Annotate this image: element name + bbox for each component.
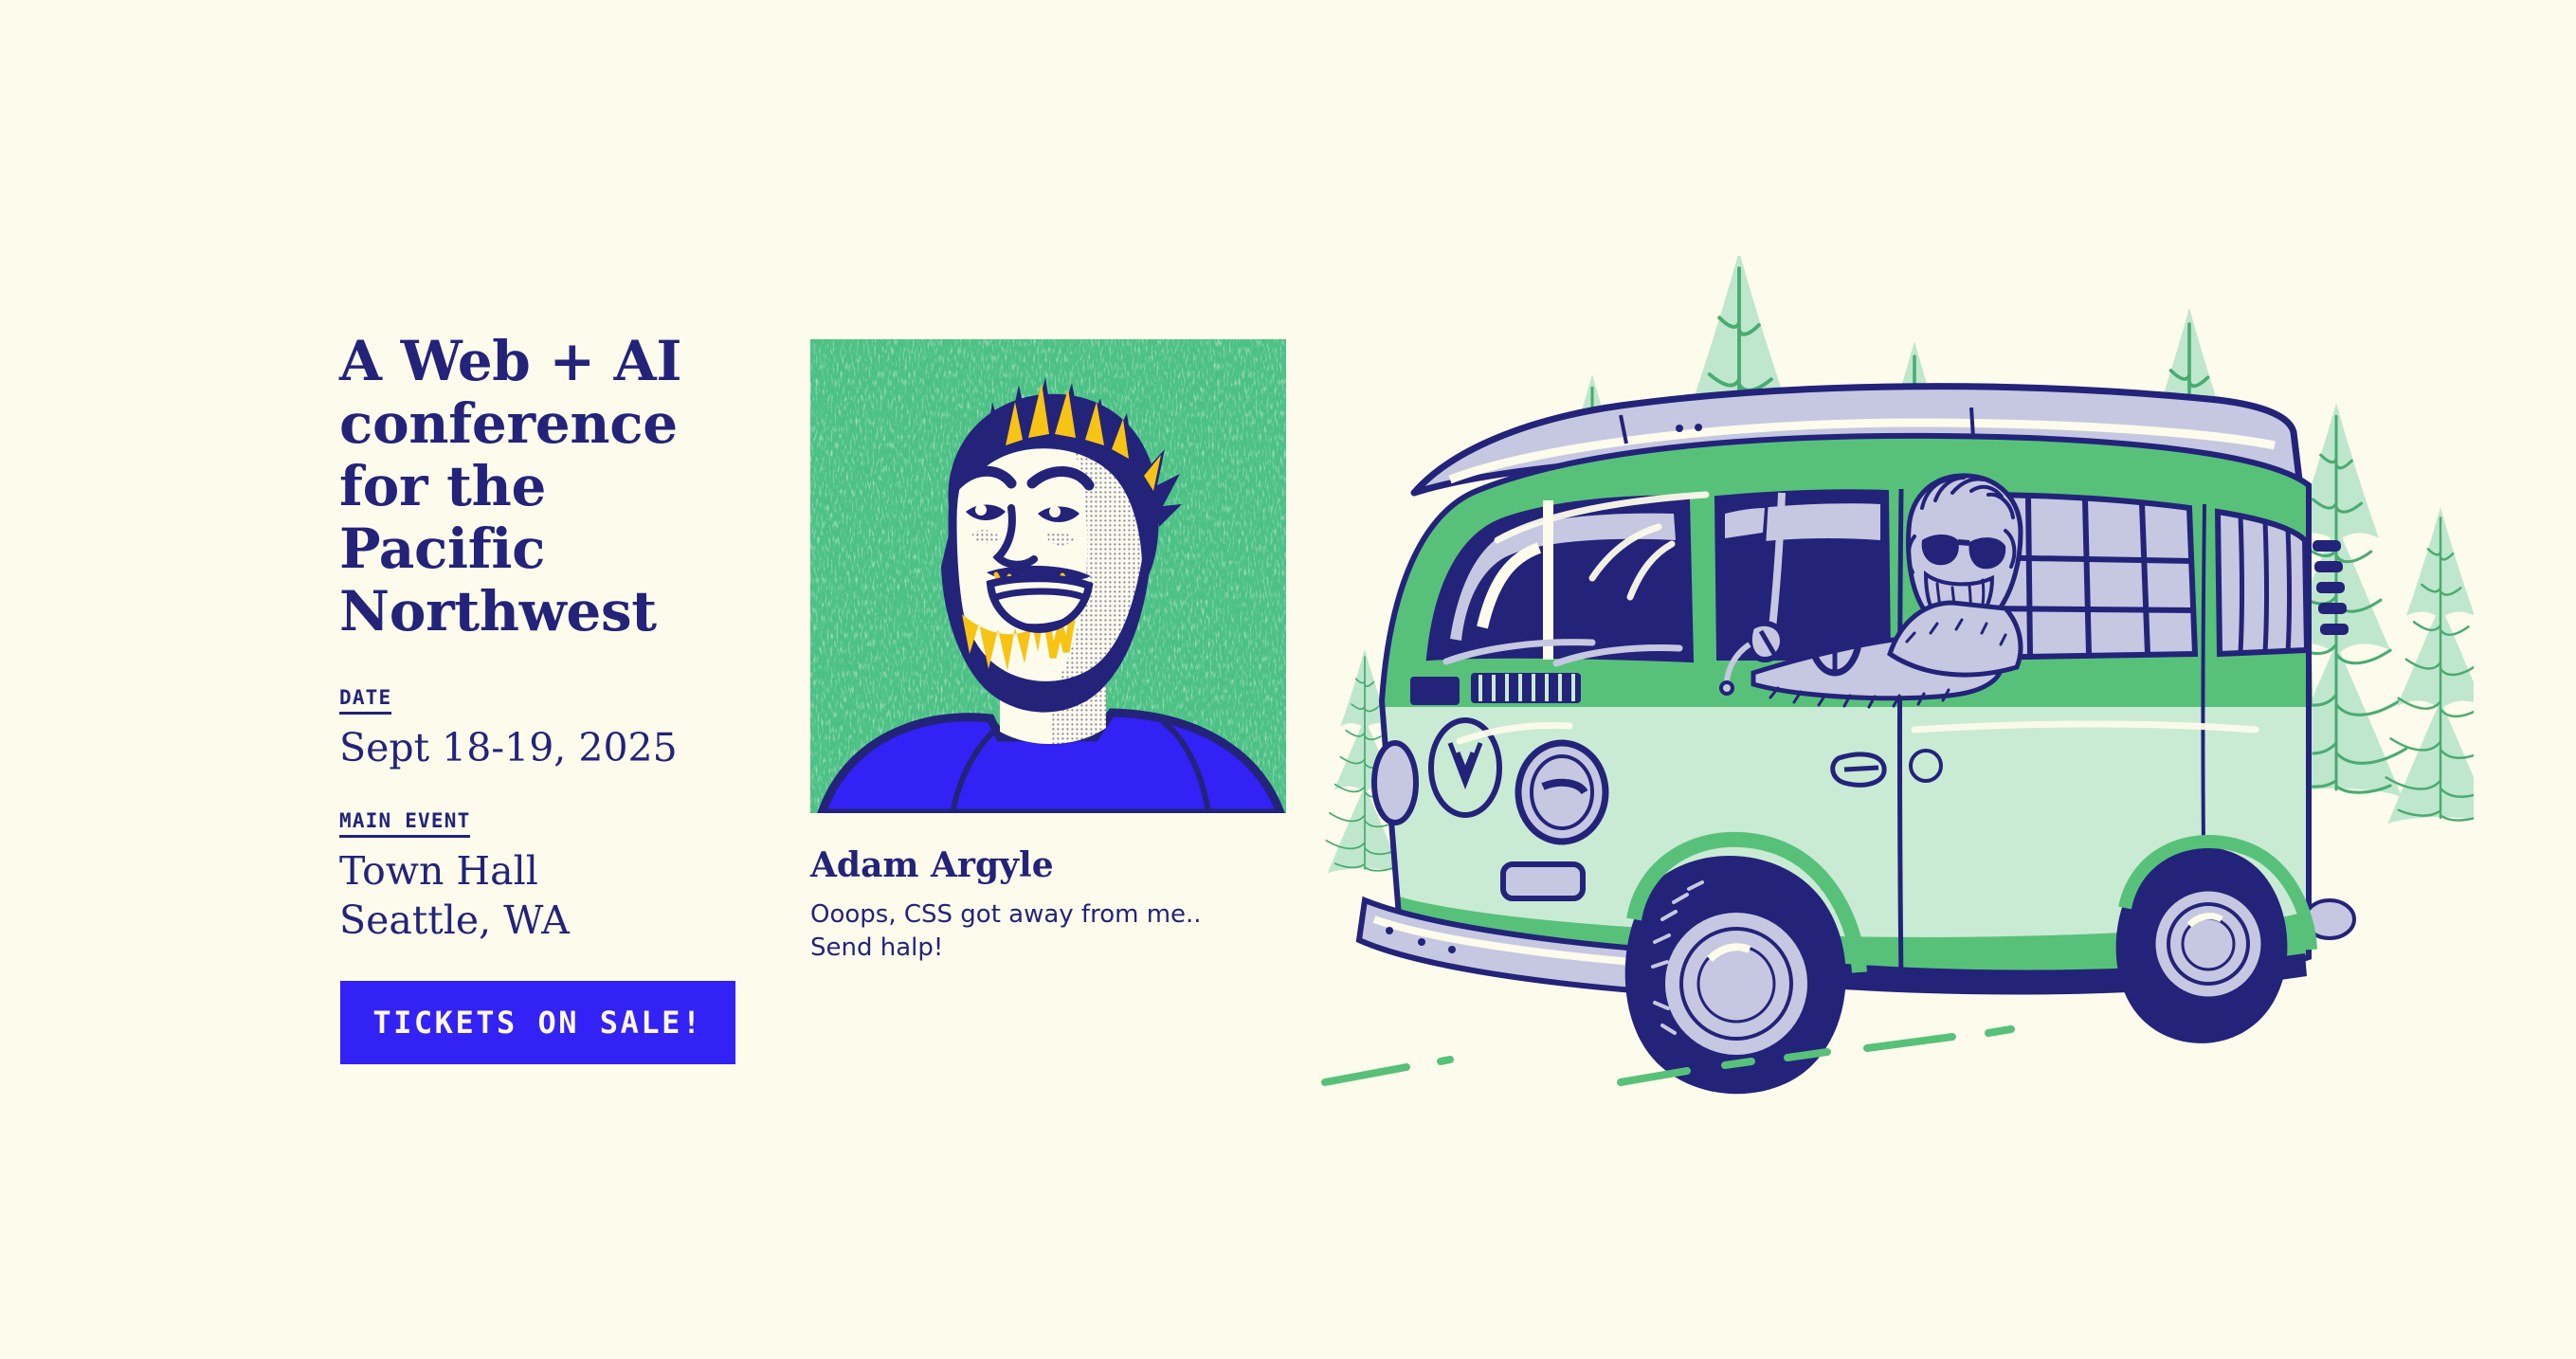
portrait-illustration-icon <box>810 339 1286 813</box>
main-event-block: MAIN EVENT Town Hall Seattle, WA <box>339 810 747 945</box>
camper-van-illustration <box>1308 256 2474 1166</box>
page-title: A Web + AI conference for the Pacific No… <box>339 330 747 643</box>
hero-banner: A Web + AI conference for the Pacific No… <box>0 0 2576 1359</box>
event-info-column: A Web + AI conference for the Pacific No… <box>339 330 747 946</box>
tickets-on-sale-label: TICKETS ON SALE! <box>372 1005 702 1041</box>
date-value: Sept 18-19, 2025 <box>339 724 747 773</box>
speaker-name: Adam Argyle <box>810 847 1289 885</box>
main-event-city: Seattle, WA <box>339 897 747 946</box>
main-event-label: MAIN EVENT <box>339 810 470 838</box>
speaker-tagline: Ooops, CSS got away from me.. Send halp! <box>810 898 1265 967</box>
main-event-venue: Town Hall <box>339 847 747 897</box>
tickets-on-sale-button[interactable]: TICKETS ON SALE! <box>340 981 735 1064</box>
camper-van <box>1359 387 2354 1095</box>
speaker-card[interactable]: Adam Argyle Ooops, CSS got away from me.… <box>810 339 1289 966</box>
speaker-tagline-line1: Ooops, CSS got away from me.. <box>810 900 1202 929</box>
date-label: DATE <box>339 687 391 715</box>
date-block: DATE Sept 18-19, 2025 <box>339 687 747 773</box>
speaker-tagline-line2: Send halp! <box>810 933 943 962</box>
speaker-portrait <box>810 339 1286 813</box>
van-forest-scene-icon <box>1308 256 2474 1166</box>
